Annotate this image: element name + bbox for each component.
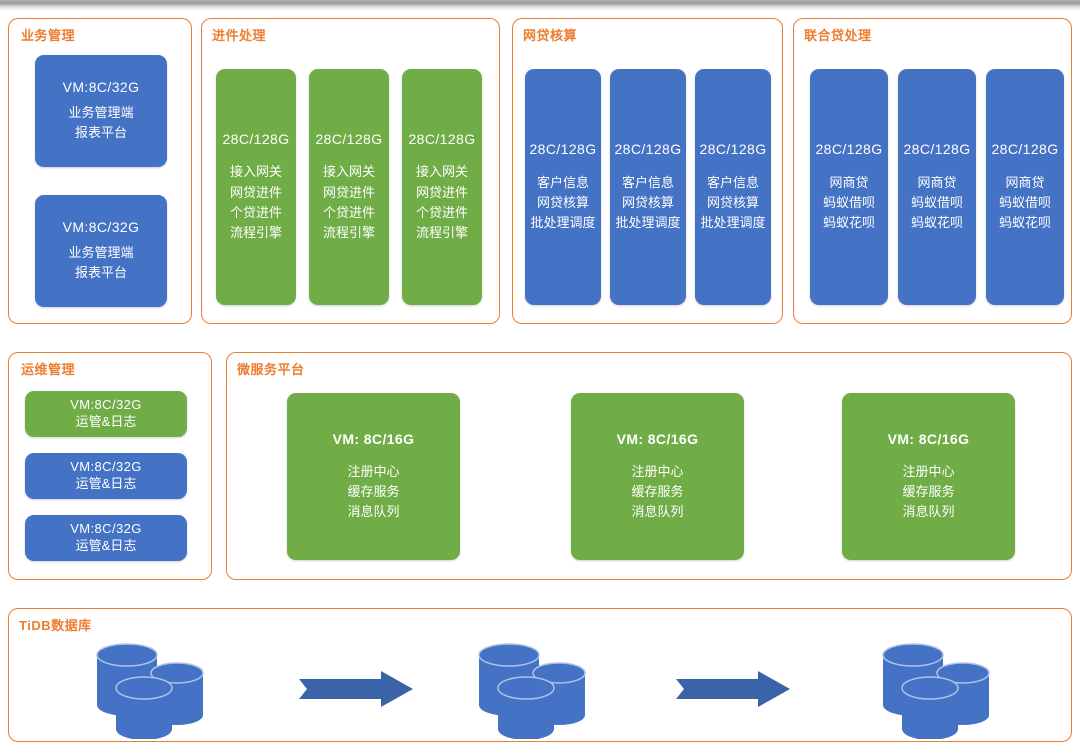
node-microservice-platform-1[interactable]: VM: 8C/16G 注册中心 缓存服务 消息队列 <box>287 393 460 560</box>
node-line: 批处理调度 <box>700 213 765 233</box>
node-line: 批处理调度 <box>530 213 595 233</box>
node-online-loan-accounting-2[interactable]: 28C/128G 客户信息 网贷核算 批处理调度 <box>610 69 686 305</box>
panel-microservice-platform[interactable]: 微服务平台 VM: 8C/16G 注册中心 缓存服务 消息队列 VM: 8C/1… <box>226 352 1072 580</box>
db-cluster-2[interactable] <box>471 633 601 739</box>
node-line: 流程引擎 <box>416 223 468 243</box>
node-lines: 客户信息 网贷核算 批处理调度 <box>615 173 680 233</box>
node-ops-management-1[interactable]: VM:8C/32G 运管&日志 <box>25 391 187 437</box>
panel-title-business-management: 业务管理 <box>21 29 75 42</box>
node-lines: 接入网关 网贷进件 个贷进件 流程引擎 <box>416 162 468 243</box>
cylinder-icon <box>883 644 989 739</box>
node-line: 客户信息 <box>700 173 765 193</box>
node-line: 客户信息 <box>615 173 680 193</box>
node-line: 流程引擎 <box>230 223 282 243</box>
node-spec: VM:8C/32G <box>63 79 140 97</box>
node-application-intake-2[interactable]: 28C/128G 接入网关 网贷进件 个贷进件 流程引擎 <box>309 69 389 305</box>
node-spec: 28C/128G <box>222 131 289 149</box>
panel-tidb-database[interactable]: TiDB数据库 <box>8 608 1072 742</box>
node-line: 报表平台 <box>68 263 133 283</box>
node-line: 业务管理端 <box>68 103 133 123</box>
node-joint-loan-processing-3[interactable]: 28C/128G 网商贷 蚂蚁借呗 蚂蚁花呗 <box>986 69 1064 305</box>
node-line: 接入网关 <box>230 162 282 182</box>
window-top-bar <box>0 0 1080 8</box>
node-line: 网贷进件 <box>323 183 375 203</box>
window-top-bar-shadow <box>0 8 1080 11</box>
node-line: 接入网关 <box>416 162 468 182</box>
panel-title-application-intake: 进件处理 <box>212 29 266 42</box>
node-line: 网贷核算 <box>700 193 765 213</box>
node-lines: 运管&日志 <box>76 475 137 493</box>
node-lines: 注册中心 缓存服务 消息队列 <box>631 462 683 522</box>
node-lines: 注册中心 缓存服务 消息队列 <box>347 462 399 522</box>
node-lines: 注册中心 缓存服务 消息队列 <box>902 462 954 522</box>
panel-title-online-loan-accounting: 网贷核算 <box>523 29 577 42</box>
cylinder-icon <box>479 644 585 739</box>
node-spec: VM: 8C/16G <box>617 431 699 449</box>
db-cluster-1[interactable] <box>89 633 219 739</box>
node-application-intake-1[interactable]: 28C/128G 接入网关 网贷进件 个贷进件 流程引擎 <box>216 69 296 305</box>
cylinder-icon <box>97 644 203 739</box>
node-spec: VM:8C/32G <box>70 459 142 475</box>
node-lines: 业务管理端 报表平台 <box>68 103 133 143</box>
node-spec: 28C/128G <box>903 141 970 159</box>
node-business-management-2[interactable]: VM:8C/32G 业务管理端 报表平台 <box>35 195 167 307</box>
node-line: 接入网关 <box>323 162 375 182</box>
node-lines: 客户信息 网贷核算 批处理调度 <box>700 173 765 233</box>
node-line: 网商贷 <box>823 173 875 193</box>
node-line: 注册中心 <box>902 462 954 482</box>
node-line: 网贷进件 <box>416 183 468 203</box>
node-line: 消息队列 <box>631 502 683 522</box>
panel-online-loan-accounting[interactable]: 网贷核算 28C/128G 客户信息 网贷核算 批处理调度 28C/128G 客… <box>512 18 783 324</box>
node-lines: 业务管理端 报表平台 <box>68 243 133 283</box>
node-spec: VM:8C/32G <box>70 521 142 537</box>
node-line: 运管&日志 <box>76 413 137 431</box>
node-line: 网商贷 <box>911 173 963 193</box>
architecture-diagram-canvas: 业务管理 VM:8C/32G 业务管理端 报表平台 VM:8C/32G 业务管理… <box>0 0 1080 754</box>
node-spec: VM:8C/32G <box>70 397 142 413</box>
node-microservice-platform-3[interactable]: VM: 8C/16G 注册中心 缓存服务 消息队列 <box>842 393 1015 560</box>
node-line: 个贷进件 <box>416 203 468 223</box>
node-lines: 接入网关 网贷进件 个贷进件 流程引擎 <box>230 162 282 243</box>
node-line: 蚂蚁借呗 <box>823 193 875 213</box>
node-application-intake-3[interactable]: 28C/128G 接入网关 网贷进件 个贷进件 流程引擎 <box>402 69 482 305</box>
node-spec: 28C/128G <box>529 141 596 159</box>
panel-business-management[interactable]: 业务管理 VM:8C/32G 业务管理端 报表平台 VM:8C/32G 业务管理… <box>8 18 192 324</box>
node-line: 注册中心 <box>347 462 399 482</box>
panel-ops-management[interactable]: 运维管理 VM:8C/32G 运管&日志 VM:8C/32G 运管&日志 VM:… <box>8 352 212 580</box>
node-joint-loan-processing-1[interactable]: 28C/128G 网商贷 蚂蚁借呗 蚂蚁花呗 <box>810 69 888 305</box>
node-spec: VM:8C/32G <box>63 219 140 237</box>
node-ops-management-3[interactable]: VM:8C/32G 运管&日志 <box>25 515 187 561</box>
node-line: 运管&日志 <box>76 537 137 555</box>
node-line: 网贷核算 <box>530 193 595 213</box>
node-line: 报表平台 <box>68 123 133 143</box>
panel-title-microservice-platform: 微服务平台 <box>237 363 305 376</box>
node-spec: 28C/128G <box>815 141 882 159</box>
node-joint-loan-processing-2[interactable]: 28C/128G 网商贷 蚂蚁借呗 蚂蚁花呗 <box>898 69 976 305</box>
node-line: 网贷进件 <box>230 183 282 203</box>
panel-title-ops-management: 运维管理 <box>21 363 75 376</box>
node-spec: 28C/128G <box>991 141 1058 159</box>
node-line: 缓存服务 <box>902 482 954 502</box>
db-cluster-3[interactable] <box>875 633 1005 739</box>
node-line: 流程引擎 <box>323 223 375 243</box>
node-line: 运管&日志 <box>76 475 137 493</box>
node-line: 个贷进件 <box>230 203 282 223</box>
node-line: 个贷进件 <box>323 203 375 223</box>
node-ops-management-2[interactable]: VM:8C/32G 运管&日志 <box>25 453 187 499</box>
node-spec: 28C/128G <box>408 131 475 149</box>
panel-title-joint-loan-processing: 联合贷处理 <box>804 29 872 42</box>
replication-arrow-2 <box>676 671 790 707</box>
node-spec: VM: 8C/16G <box>888 431 970 449</box>
node-lines: 客户信息 网贷核算 批处理调度 <box>530 173 595 233</box>
node-spec: 28C/128G <box>315 131 382 149</box>
node-line: 蚂蚁花呗 <box>823 213 875 233</box>
panel-application-intake[interactable]: 进件处理 28C/128G 接入网关 网贷进件 个贷进件 流程引擎 28C/12… <box>201 18 500 324</box>
node-line: 消息队列 <box>347 502 399 522</box>
node-line: 消息队列 <box>902 502 954 522</box>
node-spec: 28C/128G <box>699 141 766 159</box>
node-line: 业务管理端 <box>68 243 133 263</box>
node-line: 蚂蚁借呗 <box>911 193 963 213</box>
node-spec: 28C/128G <box>614 141 681 159</box>
node-line: 蚂蚁花呗 <box>999 213 1051 233</box>
node-line: 蚂蚁花呗 <box>911 213 963 233</box>
node-lines: 网商贷 蚂蚁借呗 蚂蚁花呗 <box>911 173 963 233</box>
node-business-management-1[interactable]: VM:8C/32G 业务管理端 报表平台 <box>35 55 167 167</box>
node-line: 网贷核算 <box>615 193 680 213</box>
node-online-loan-accounting-1[interactable]: 28C/128G 客户信息 网贷核算 批处理调度 <box>525 69 601 305</box>
node-line: 缓存服务 <box>347 482 399 502</box>
node-line: 缓存服务 <box>631 482 683 502</box>
node-line: 蚂蚁借呗 <box>999 193 1051 213</box>
node-lines: 运管&日志 <box>76 413 137 431</box>
node-microservice-platform-2[interactable]: VM: 8C/16G 注册中心 缓存服务 消息队列 <box>571 393 744 560</box>
node-lines: 网商贷 蚂蚁借呗 蚂蚁花呗 <box>823 173 875 233</box>
node-line: 批处理调度 <box>615 213 680 233</box>
node-line: 网商贷 <box>999 173 1051 193</box>
node-line: 注册中心 <box>631 462 683 482</box>
node-lines: 接入网关 网贷进件 个贷进件 流程引擎 <box>323 162 375 243</box>
replication-arrow-1 <box>299 671 413 707</box>
node-lines: 运管&日志 <box>76 537 137 555</box>
node-lines: 网商贷 蚂蚁借呗 蚂蚁花呗 <box>999 173 1051 233</box>
node-online-loan-accounting-3[interactable]: 28C/128G 客户信息 网贷核算 批处理调度 <box>695 69 771 305</box>
panel-joint-loan-processing[interactable]: 联合贷处理 28C/128G 网商贷 蚂蚁借呗 蚂蚁花呗 28C/128G 网商… <box>793 18 1072 324</box>
node-spec: VM: 8C/16G <box>333 431 415 449</box>
panel-title-tidb-database: TiDB数据库 <box>19 619 92 632</box>
node-line: 客户信息 <box>530 173 595 193</box>
